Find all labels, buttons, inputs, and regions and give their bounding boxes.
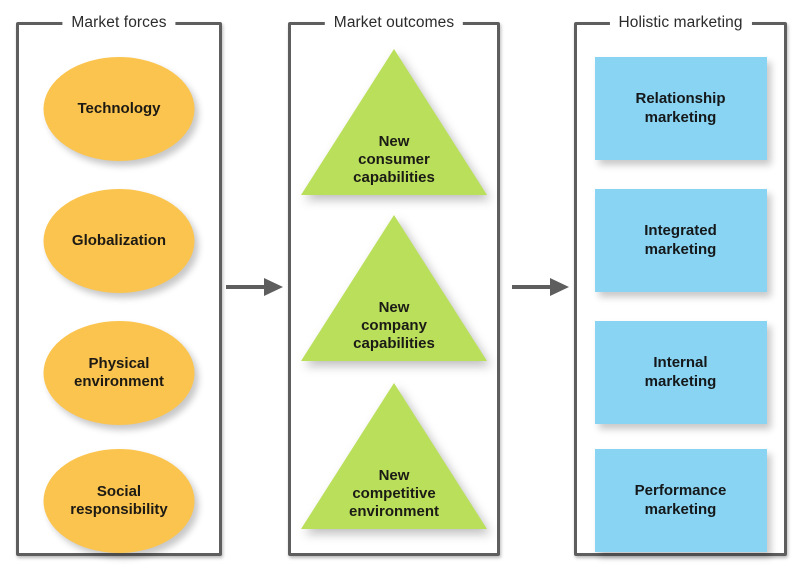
node-new-consumer-capabilities[interactable]: Newconsumercapabilities (301, 49, 487, 195)
node-new-company-capabilities[interactable]: Newcompanycapabilities (301, 215, 487, 361)
node-technology[interactable]: Technology (44, 57, 195, 161)
node-internal-marketing[interactable]: Internalmarketing (595, 321, 767, 424)
node-integrated-marketing-label: Integratedmarketing (644, 222, 717, 259)
node-physical-environment[interactable]: Physicalenvironment (44, 321, 195, 425)
node-new-company-capabilities-label: Newcompanycapabilities (301, 299, 487, 353)
node-relationship-marketing[interactable]: Relationshipmarketing (595, 57, 767, 160)
panel-holistic-marketing-body: Relationshipmarketing Integratedmarketin… (577, 25, 784, 553)
node-technology-label: Technology (77, 100, 160, 118)
node-globalization-label: Globalization (72, 232, 166, 250)
node-globalization[interactable]: Globalization (44, 189, 195, 293)
node-internal-marketing-label: Internalmarketing (645, 354, 717, 391)
node-social-responsibility[interactable]: Socialresponsibility (44, 449, 195, 553)
node-new-competitive-environment[interactable]: Newcompetitiveenvironment (301, 383, 487, 529)
panel-holistic-marketing: Holistic marketing Relationshipmarketing… (574, 22, 787, 556)
node-performance-marketing[interactable]: Performancemarketing (595, 449, 767, 552)
panel-market-forces: Market forces Technology Globalization P… (16, 22, 222, 556)
node-social-responsibility-label: Socialresponsibility (70, 483, 168, 518)
node-performance-marketing-label: Performancemarketing (635, 482, 727, 519)
node-relationship-marketing-label: Relationshipmarketing (635, 90, 725, 127)
arrow-forces-to-outcomes-icon (226, 274, 284, 300)
panel-market-forces-body: Technology Globalization Physicalenviron… (19, 25, 219, 553)
panel-market-outcomes-body: Newconsumercapabilities Newcompanycapabi… (291, 25, 497, 553)
node-integrated-marketing[interactable]: Integratedmarketing (595, 189, 767, 292)
panel-market-outcomes: Market outcomes Newconsumercapabilities … (288, 22, 500, 556)
node-new-consumer-capabilities-label: Newconsumercapabilities (301, 133, 487, 187)
node-physical-environment-label: Physicalenvironment (74, 355, 164, 390)
arrow-outcomes-to-holistic-icon (512, 274, 570, 300)
node-new-competitive-environment-label: Newcompetitiveenvironment (301, 467, 487, 521)
holistic-marketing-diagram: Market forces Technology Globalization P… (0, 0, 805, 580)
